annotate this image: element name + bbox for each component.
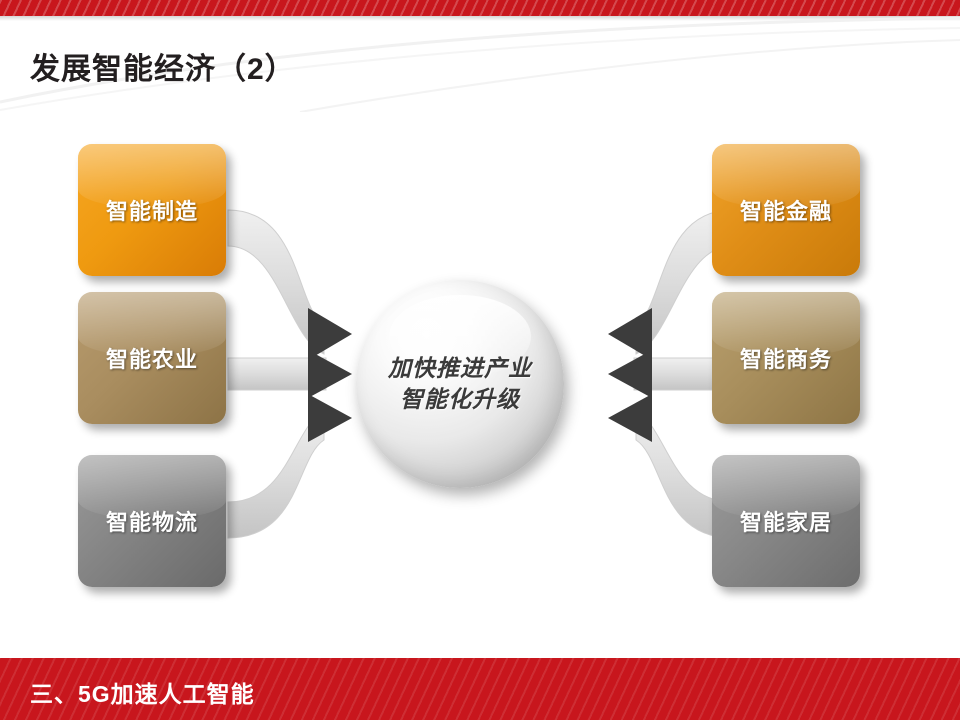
- node-left-2[interactable]: 智能农业: [78, 292, 226, 424]
- top-bar-stripe-texture: [0, 0, 960, 16]
- footer-section-label: 三、5G加速人工智能: [30, 675, 255, 709]
- arrowhead-left-mid: [308, 350, 352, 398]
- node-left-1[interactable]: 智能制造: [78, 144, 226, 276]
- footer-band: 三、5G加速人工智能: [0, 655, 960, 720]
- node-right-3-label: 智能家居: [740, 505, 832, 537]
- arrowhead-right-top: [608, 308, 652, 360]
- top-accent-bar: [0, 0, 960, 16]
- node-left-2-label: 智能农业: [106, 342, 198, 374]
- top-bar-shadow: [0, 16, 960, 21]
- center-sphere-text: 加快推进产业 智能化升级: [388, 353, 532, 415]
- node-left-1-label: 智能制造: [106, 194, 198, 226]
- arrowhead-right-mid: [608, 350, 652, 398]
- center-sphere-line-2: 智能化升级: [388, 384, 532, 415]
- node-right-2[interactable]: 智能商务: [712, 292, 860, 424]
- slide: 发展智能经济（2）: [0, 0, 960, 720]
- diagram-canvas: 智能制造 智能农业 智能物流 智能金融 智能商务 智能家居 加快推进产业: [0, 110, 960, 640]
- node-right-2-label: 智能商务: [740, 342, 832, 374]
- node-left-3[interactable]: 智能物流: [78, 455, 226, 587]
- center-sphere[interactable]: 加快推进产业 智能化升级: [356, 280, 564, 488]
- arrowhead-left-bottom: [308, 394, 352, 442]
- page-title: 发展智能经济（2）: [30, 44, 296, 88]
- center-sphere-line-1: 加快推进产业: [388, 353, 532, 384]
- arrowhead-left-top: [308, 308, 352, 360]
- node-right-1-label: 智能金融: [740, 194, 832, 226]
- node-right-3[interactable]: 智能家居: [712, 455, 860, 587]
- arrowhead-right-bottom: [608, 394, 652, 442]
- node-right-1[interactable]: 智能金融: [712, 144, 860, 276]
- node-left-3-label: 智能物流: [106, 505, 198, 537]
